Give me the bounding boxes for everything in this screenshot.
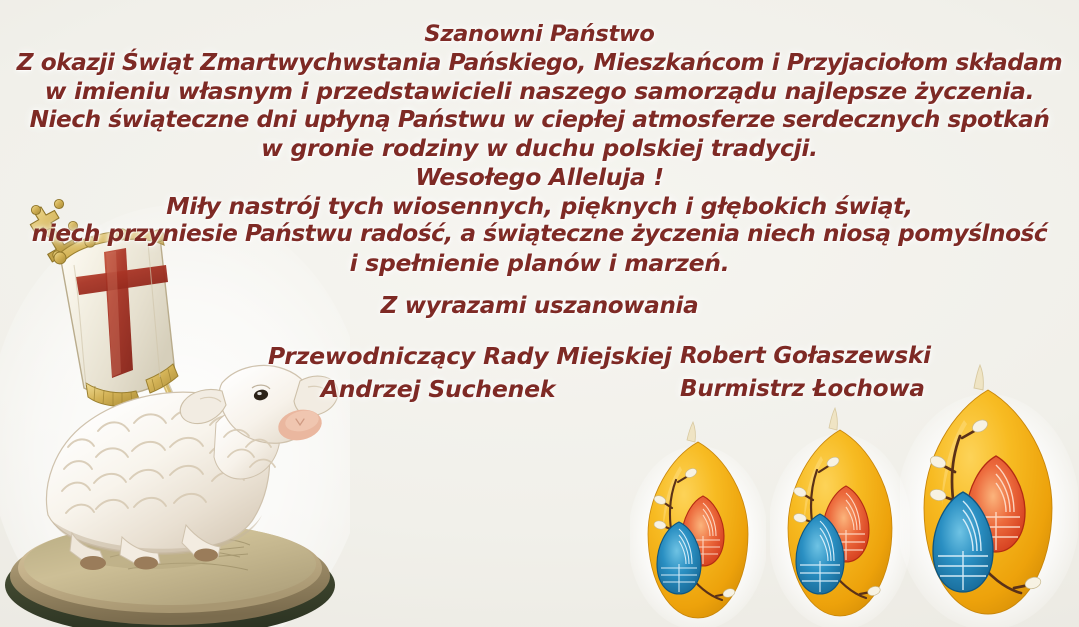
signature-right-name: Robert Gołaszewski: [680, 340, 908, 373]
signature-left: Przewodniczący Rady Miejskiej Andrzej Su…: [268, 340, 608, 406]
signature-left-title: Przewodniczący Rady Miejskiej: [268, 340, 608, 373]
closing-line: Z wyrazami uszanowania: [0, 292, 1079, 321]
signature-right: Robert Gołaszewski Burmistrz Łochowa: [680, 340, 908, 406]
easter-egg-candle-small: [630, 418, 766, 627]
easter-greeting-card: Szanowni Państwo Z okazji Świąt Zmartwyc…: [0, 0, 1079, 627]
greeting-line-1: Szanowni Państwo: [0, 20, 1079, 49]
paschal-lamb-figurine: [0, 185, 350, 627]
greeting-line-2: Z okazji Świąt Zmartwychwstania Pańskieg…: [0, 49, 1079, 78]
greeting-line-4: Niech świąteczne dni upłyną Państwu w ci…: [0, 106, 1079, 135]
easter-egg-candle-medium: [770, 404, 910, 627]
candle-wick: [974, 365, 983, 390]
candle-wick: [687, 422, 695, 442]
signature-right-title: Burmistrz Łochowa: [680, 373, 908, 406]
easter-egg-candle-large: [900, 362, 1078, 627]
greeting-line-3: w imieniu własnym i przedstawicieli nasz…: [0, 77, 1079, 106]
candle-wick: [829, 408, 837, 430]
closing-text: Z wyrazami uszanowania: [0, 292, 1079, 321]
greeting-line-5: w gronie rodziny w duchu polskiej tradyc…: [0, 134, 1079, 163]
signature-left-name: Andrzej Suchenek: [268, 373, 608, 406]
